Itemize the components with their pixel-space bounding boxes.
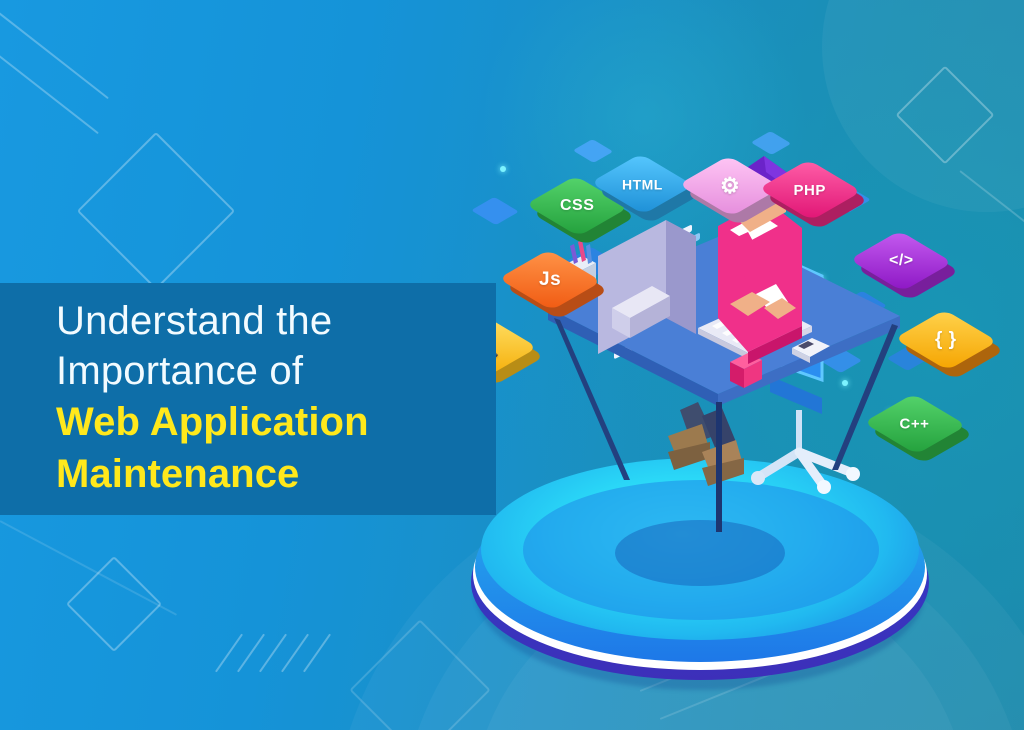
cplusplus-badge: C++ (887, 396, 951, 460)
headline-line-1: Understand the (56, 296, 496, 346)
php-badge-label: PHP (794, 182, 826, 199)
headline-line-2: Importance of (56, 346, 496, 396)
gears-badge: ⚙ (702, 158, 766, 222)
banner-stage: CSS HTML ⚙ PHP Js 🔍 (0, 0, 1024, 730)
person-legs (668, 402, 744, 486)
braces-badge-label: { } (935, 329, 957, 351)
javascript-badge-label: Js (539, 269, 561, 291)
code-tags-badge-label: </> (889, 252, 914, 270)
code-tags-badge: </> (873, 233, 937, 297)
braces-badge: { } (918, 312, 982, 376)
php-badge: PHP (782, 162, 846, 226)
html-badge: HTML (614, 156, 678, 220)
css-badge-label: CSS (560, 197, 594, 215)
gears-icon: ⚙ (720, 173, 740, 199)
headline-accent-line-1: Web Application (56, 396, 496, 448)
headline-accent-line-2: Maintenance (56, 448, 496, 500)
isometric-illustration: CSS HTML ⚙ PHP Js 🔍 (430, 80, 1024, 680)
headline-block: Understand the Importance of Web Applica… (56, 296, 496, 500)
cplusplus-badge-label: C++ (900, 415, 930, 432)
html-badge-label: HTML (622, 176, 663, 192)
javascript-badge: Js (522, 252, 586, 316)
